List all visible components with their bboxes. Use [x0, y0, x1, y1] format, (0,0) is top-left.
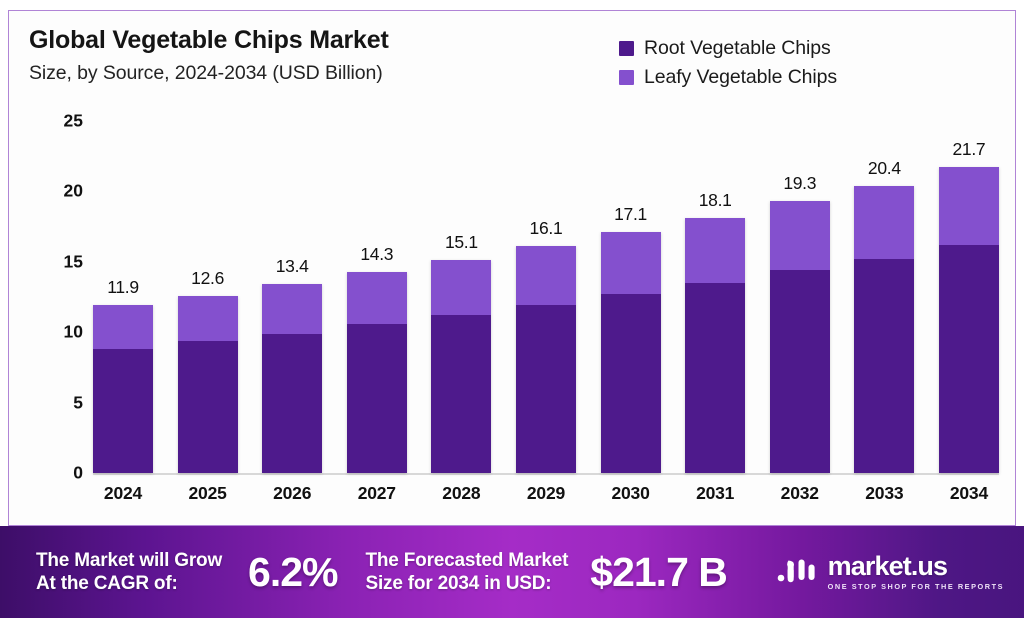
bar-value-label: 19.3	[755, 173, 845, 194]
bar-value-label: 20.4	[839, 158, 929, 179]
legend-label-leafy: Leafy Vegetable Chips	[644, 66, 837, 89]
bar-value-label: 12.6	[163, 268, 253, 289]
y-axis-tick: 25	[27, 111, 83, 132]
legend-swatch-icon	[619, 70, 634, 85]
bar-group[interactable]: 17.1	[601, 121, 661, 473]
x-axis: 2024202520262027202820292030203120322033…	[93, 483, 999, 504]
footer-inner: The Market will Grow At the CAGR of: 6.2…	[0, 549, 1024, 596]
bar-segment-root[interactable]	[347, 324, 407, 473]
bar-segment-leafy[interactable]	[262, 284, 322, 333]
bar-group[interactable]: 20.4	[854, 121, 914, 473]
x-axis-tick: 2024	[93, 483, 153, 504]
bar-stack[interactable]	[431, 260, 491, 473]
logo-wordmark: market.us	[828, 551, 947, 581]
bar-group[interactable]: 18.1	[685, 121, 745, 473]
bar-segment-leafy[interactable]	[770, 201, 830, 270]
logo-tagline: ONE STOP SHOP FOR THE REPORTS	[828, 583, 1004, 590]
bar-stack[interactable]	[262, 284, 322, 473]
bar-segment-root[interactable]	[601, 294, 661, 473]
plot-area: 0510152025 11.912.613.414.315.116.117.11…	[9, 107, 1015, 527]
bar-segment-leafy[interactable]	[939, 167, 999, 244]
y-axis: 0510152025	[27, 121, 83, 473]
x-axis-tick: 2025	[178, 483, 238, 504]
x-axis-tick: 2028	[431, 483, 491, 504]
y-axis-tick: 20	[27, 181, 83, 202]
bar-stack[interactable]	[93, 305, 153, 473]
forecast-label-line1: The Forecasted Market	[366, 549, 569, 572]
bar-stack[interactable]	[854, 186, 914, 473]
cagr-label-line2: At the CAGR of:	[36, 572, 222, 595]
bar-segment-leafy[interactable]	[347, 272, 407, 324]
chart-subtitle: Size, by Source, 2024-2034 (USD Billion)	[29, 62, 389, 85]
infographic-root: Global Vegetable Chips Market Size, by S…	[0, 0, 1024, 618]
chart-legend: Root Vegetable Chips Leafy Vegetable Chi…	[619, 34, 837, 92]
legend-swatch-icon	[619, 41, 634, 56]
forecast-label-line2: Size for 2034 in USD:	[366, 572, 569, 595]
forecast-label: The Forecasted Market Size for 2034 in U…	[366, 549, 569, 595]
title-block: Global Vegetable Chips Market Size, by S…	[29, 27, 389, 85]
bar-value-label: 17.1	[586, 204, 676, 225]
legend-label-root: Root Vegetable Chips	[644, 37, 831, 60]
cagr-label: The Market will Grow At the CAGR of:	[36, 549, 222, 595]
chart-card: Global Vegetable Chips Market Size, by S…	[8, 10, 1016, 526]
bar-group[interactable]: 14.3	[347, 121, 407, 473]
bar-segment-root[interactable]	[685, 283, 745, 473]
bar-segment-root[interactable]	[93, 349, 153, 473]
bar-stack[interactable]	[939, 167, 999, 473]
x-axis-tick: 2027	[347, 483, 407, 504]
bar-value-label: 13.4	[247, 256, 337, 277]
bar-group[interactable]: 19.3	[770, 121, 830, 473]
x-axis-tick: 2034	[939, 483, 999, 504]
bar-value-label: 16.1	[501, 218, 591, 239]
y-axis-tick: 15	[27, 251, 83, 272]
bar-segment-leafy[interactable]	[431, 260, 491, 315]
bar-stack[interactable]	[347, 272, 407, 473]
bar-value-label: 11.9	[78, 277, 168, 298]
bar-stack[interactable]	[178, 296, 238, 473]
bar-segment-root[interactable]	[431, 315, 491, 473]
bar-group[interactable]: 16.1	[516, 121, 576, 473]
chart-title: Global Vegetable Chips Market	[29, 27, 389, 55]
x-axis-line	[93, 473, 999, 475]
bar-segment-leafy[interactable]	[854, 186, 914, 259]
bar-group[interactable]: 12.6	[178, 121, 238, 473]
bar-segment-root[interactable]	[262, 334, 322, 473]
bar-segment-leafy[interactable]	[93, 305, 153, 349]
bar-value-label: 14.3	[332, 244, 422, 265]
bar-segment-root[interactable]	[854, 259, 914, 473]
forecast-value: $21.7 B	[590, 549, 727, 596]
legend-item-leafy[interactable]: Leafy Vegetable Chips	[619, 63, 837, 92]
bar-stack[interactable]	[770, 201, 830, 473]
logo-text: market.us ONE STOP SHOP FOR THE REPORTS	[828, 553, 1004, 590]
bar-segment-root[interactable]	[516, 305, 576, 473]
bar-value-label: 18.1	[670, 190, 760, 211]
logo-bars-icon	[777, 553, 819, 590]
bar-group[interactable]: 13.4	[262, 121, 322, 473]
market-us-logo[interactable]: market.us ONE STOP SHOP FOR THE REPORTS	[777, 553, 1010, 590]
footer-band: The Market will Grow At the CAGR of: 6.2…	[0, 526, 1024, 618]
bar-stack[interactable]	[601, 232, 661, 473]
bar-segment-leafy[interactable]	[516, 246, 576, 305]
x-axis-tick: 2033	[854, 483, 914, 504]
y-axis-tick: 0	[27, 463, 83, 484]
bar-group[interactable]: 15.1	[431, 121, 491, 473]
bar-segment-root[interactable]	[770, 270, 830, 473]
x-axis-tick: 2030	[601, 483, 661, 504]
bar-stack[interactable]	[516, 246, 576, 473]
cagr-value: 6.2%	[248, 549, 337, 596]
bar-segment-leafy[interactable]	[685, 218, 745, 283]
legend-item-root[interactable]: Root Vegetable Chips	[619, 34, 837, 63]
bar-group[interactable]: 21.7	[939, 121, 999, 473]
bar-segment-leafy[interactable]	[178, 296, 238, 341]
x-axis-tick: 2029	[516, 483, 576, 504]
bar-value-label: 15.1	[416, 232, 506, 253]
bar-series-container: 11.912.613.414.315.116.117.118.119.320.4…	[93, 121, 999, 473]
y-axis-tick: 10	[27, 322, 83, 343]
y-axis-tick: 5	[27, 392, 83, 413]
bar-segment-root[interactable]	[939, 245, 999, 473]
bar-segment-leafy[interactable]	[601, 232, 661, 294]
bar-value-label: 21.7	[924, 139, 1014, 160]
bar-group[interactable]: 11.9	[93, 121, 153, 473]
bar-segment-root[interactable]	[178, 341, 238, 473]
x-axis-tick: 2031	[685, 483, 745, 504]
x-axis-tick: 2026	[262, 483, 322, 504]
cagr-label-line1: The Market will Grow	[36, 549, 222, 572]
chart-header: Global Vegetable Chips Market Size, by S…	[9, 11, 1015, 107]
bar-stack[interactable]	[685, 218, 745, 473]
x-axis-tick: 2032	[770, 483, 830, 504]
